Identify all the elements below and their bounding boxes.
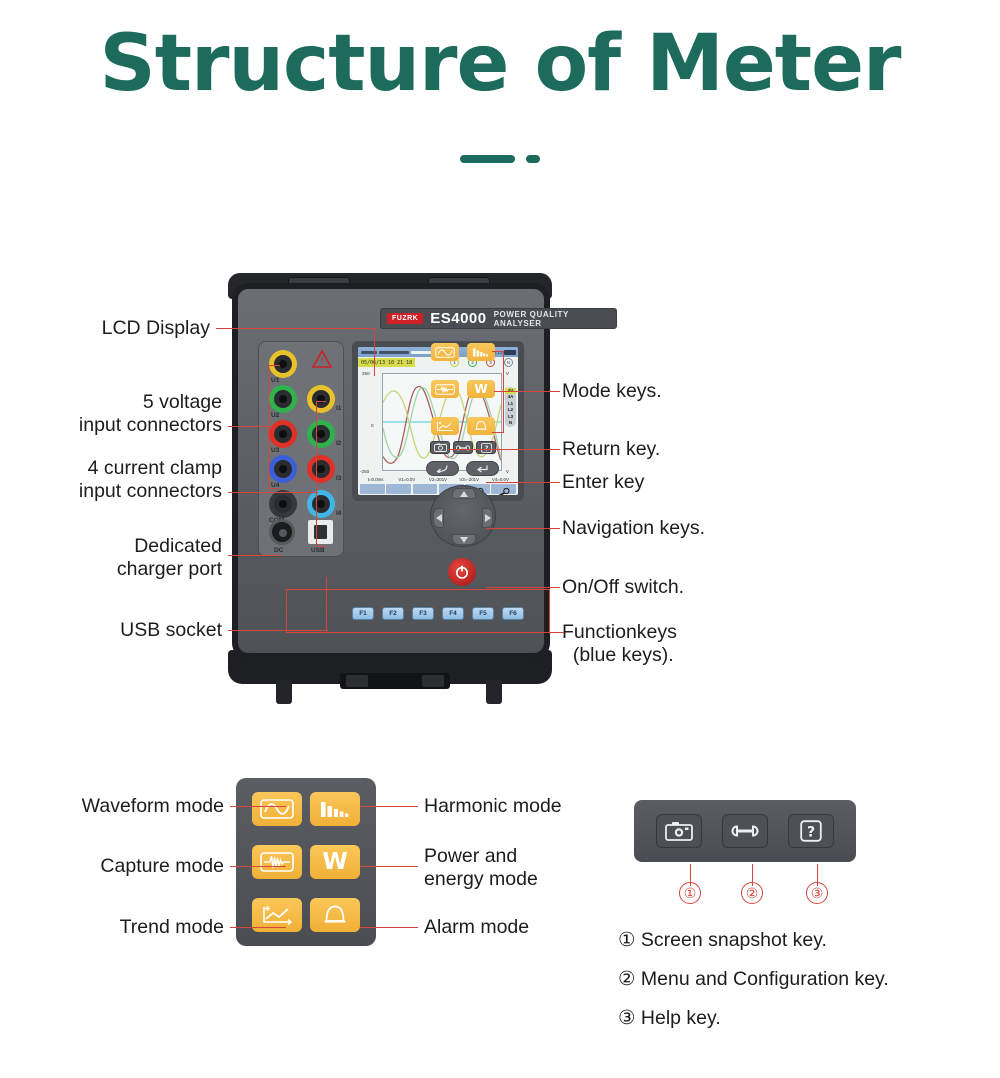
detail-help-key[interactable]: ? [788, 814, 834, 848]
bracket-current-inputs [316, 401, 326, 547]
leader-charger-port [228, 555, 282, 556]
bar-chart-icon [318, 799, 352, 819]
callout-function-keys: Functionkeys (blue keys). [562, 621, 677, 667]
leader-waveform-mode [230, 806, 286, 807]
softkey-2[interactable] [386, 484, 411, 494]
lcd-timestamp: 05/06/13 10 21 18 [358, 358, 415, 367]
softkey-1[interactable] [360, 484, 385, 494]
watt-icon: W [474, 382, 487, 396]
mode-keys-group: W [431, 343, 495, 435]
softkey-3[interactable] [413, 484, 438, 494]
callout-lcd-display: LCD Display [0, 317, 210, 340]
leader-lcd-display-drop [374, 328, 375, 376]
warning-triangle-icon: ! [313, 350, 331, 365]
callout-navigation-keys: Navigation keys. [562, 517, 705, 540]
brand-logo: FUZRK [387, 313, 423, 324]
callout-onoff-switch: On/Off switch. [562, 576, 684, 599]
power-button[interactable] [445, 555, 479, 589]
navigation-keys[interactable] [430, 485, 496, 547]
jack-label-i3: I3 [336, 475, 341, 482]
lcd-softkey-bar [360, 484, 516, 494]
leader-voltage-inputs [228, 426, 270, 427]
mode-keys-detail-panel: W [236, 778, 376, 946]
readout-v1: V1=0.0V [391, 477, 422, 482]
snapshot-key[interactable] [430, 441, 450, 454]
product-subtitle: POWER QUALITY ANALYSER [494, 310, 616, 328]
nav-right-button[interactable] [482, 508, 493, 528]
leader-current-inputs [228, 492, 318, 493]
leader-lcd-display [216, 328, 376, 329]
leader-navigation-keys [486, 528, 560, 529]
alarm-mode-key[interactable] [467, 417, 495, 435]
detail-menu-config-key[interactable] [722, 814, 768, 848]
power-icon [454, 564, 470, 580]
axis-label-top: 250 [362, 371, 370, 376]
detail-capture-mode-key[interactable] [252, 845, 302, 879]
power-mode-key[interactable]: W [467, 380, 495, 398]
dc-charger-port[interactable] [269, 519, 295, 545]
leader-trend-mode [230, 927, 286, 928]
nav-down-button[interactable] [452, 534, 476, 545]
trend-mode-key[interactable] [431, 417, 459, 435]
lcd-channel-selector[interactable]: 4V 4A L1 L2 L3 N [505, 387, 516, 427]
phase-indicator-n: N [504, 358, 513, 367]
voltage-jack-com[interactable] [269, 490, 297, 518]
divider-dash [460, 155, 515, 163]
jack-label-i4: I4 [336, 510, 341, 517]
detail-waveform-mode-key[interactable] [252, 792, 302, 826]
axis-label-mid: 0 [371, 423, 374, 428]
callout-usb-socket: USB socket [0, 619, 222, 642]
jack-label-i2: I2 [336, 440, 341, 447]
readout-time: t=0.0ms [360, 477, 391, 482]
device-illustration: FUZRK ES4000 POWER QUALITY ANALYSER ! U1 [0, 255, 1000, 705]
svg-text:!: ! [320, 357, 323, 366]
label-waveform-mode: Waveform mode [40, 795, 224, 818]
port-label-dc: DC [274, 547, 283, 554]
title-block: Structure of Meter [0, 24, 1000, 106]
trend-arrow-icon [435, 421, 455, 432]
legend-item-1: ① Screen snapshot key. [618, 928, 827, 952]
utility-keys-detail-panel: ? [634, 800, 856, 862]
jack-label-i1: I1 [336, 405, 341, 412]
svg-text:?: ? [807, 825, 815, 841]
return-arrow-icon [435, 464, 450, 473]
label-trend-mode: Trend mode [40, 916, 224, 939]
wrench-icon [730, 823, 760, 839]
detail-alarm-mode-key[interactable] [310, 898, 360, 932]
case-foot-right [486, 680, 502, 704]
brand-bar: FUZRK ES4000 POWER QUALITY ANALYSER [380, 308, 617, 329]
axis-label-bottom: -250 [360, 469, 369, 474]
trend-arrow-icon [260, 905, 294, 925]
bracket-function-keys-top [286, 589, 550, 590]
selector-item-n[interactable]: N [505, 420, 516, 426]
callout-mode-keys: Mode keys. [562, 380, 662, 403]
nav-up-button[interactable] [452, 488, 476, 499]
callout-number-1: ① [679, 882, 701, 904]
axis-unit-top: V [506, 371, 509, 376]
leader-enter-key [486, 482, 560, 483]
softkey-zoom-in[interactable] [491, 484, 516, 494]
waveform-mode-key[interactable] [431, 343, 459, 361]
case-hinge [340, 673, 450, 689]
detail-snapshot-key[interactable] [656, 814, 702, 848]
question-mark-icon: ? [481, 443, 492, 453]
question-mark-icon: ? [800, 820, 822, 842]
bracket-function-keys [286, 589, 550, 633]
transient-icon [435, 384, 455, 395]
page-title: Structure of Meter [0, 24, 1000, 106]
title-divider [0, 152, 1000, 166]
callout-number-3: ③ [806, 882, 828, 904]
legend-item-3: ③ Help key. [618, 1006, 721, 1030]
bracket-mode-keys [492, 351, 504, 433]
capture-mode-key[interactable] [431, 380, 459, 398]
harmonic-mode-key[interactable] [467, 343, 495, 361]
label-power-mode: Power and energy mode [424, 845, 538, 891]
hinge-plate-left [346, 675, 368, 687]
model-name: ES4000 [430, 310, 486, 327]
label-alarm-mode: Alarm mode [424, 916, 529, 939]
callout-charger-port: Dedicated charger port [0, 535, 222, 581]
port-label-usb: USB [311, 547, 325, 554]
camera-icon [434, 443, 447, 452]
svg-text:?: ? [484, 444, 488, 452]
case-foot-left [276, 680, 292, 704]
leader-capture-mode [230, 866, 286, 867]
enter-arrow-icon [475, 464, 490, 473]
callout-current-inputs: 4 current clamp input connectors [0, 457, 222, 503]
callout-voltage-inputs: 5 voltage input connectors [0, 391, 222, 437]
label-capture-mode: Capture mode [40, 855, 224, 878]
leader-harmonic-mode [360, 806, 418, 807]
sine-wave-icon [435, 347, 455, 358]
enter-key[interactable] [466, 461, 499, 476]
chevron-up-icon [460, 491, 468, 497]
bell-icon [474, 420, 488, 432]
legend-item-2: ② Menu and Configuration key. [618, 967, 889, 991]
menu-config-key[interactable] [453, 441, 473, 454]
camera-icon [665, 821, 693, 841]
bracket-voltage-inputs [268, 365, 280, 489]
chevron-left-icon [436, 514, 442, 522]
leader-alarm-mode [360, 927, 418, 928]
battery-icon [504, 350, 516, 355]
leader-return-key [448, 449, 560, 450]
chevron-right-icon [485, 514, 491, 522]
watt-icon: W [322, 849, 347, 875]
axis-unit-bottom: V [506, 469, 509, 474]
return-enter-group [426, 461, 500, 481]
transient-icon [260, 852, 294, 872]
bar-chart-icon [471, 347, 491, 358]
help-key[interactable]: ? [476, 441, 496, 454]
detail-harmonic-mode-key[interactable] [310, 792, 360, 826]
chevron-down-icon [460, 537, 468, 543]
hinge-plate-right [422, 675, 444, 687]
return-key[interactable] [426, 461, 459, 476]
leader-power-mode [360, 866, 418, 867]
divider-dot [526, 155, 540, 163]
callout-return-key: Return key. [562, 438, 660, 461]
detail-power-mode-key[interactable]: W [310, 845, 360, 879]
bell-icon [322, 904, 348, 926]
label-harmonic-mode: Harmonic mode [424, 795, 562, 818]
nav-left-button[interactable] [433, 508, 444, 528]
sine-wave-icon [260, 799, 294, 819]
callout-enter-key: Enter key [562, 471, 644, 494]
callout-number-2: ② [741, 882, 763, 904]
